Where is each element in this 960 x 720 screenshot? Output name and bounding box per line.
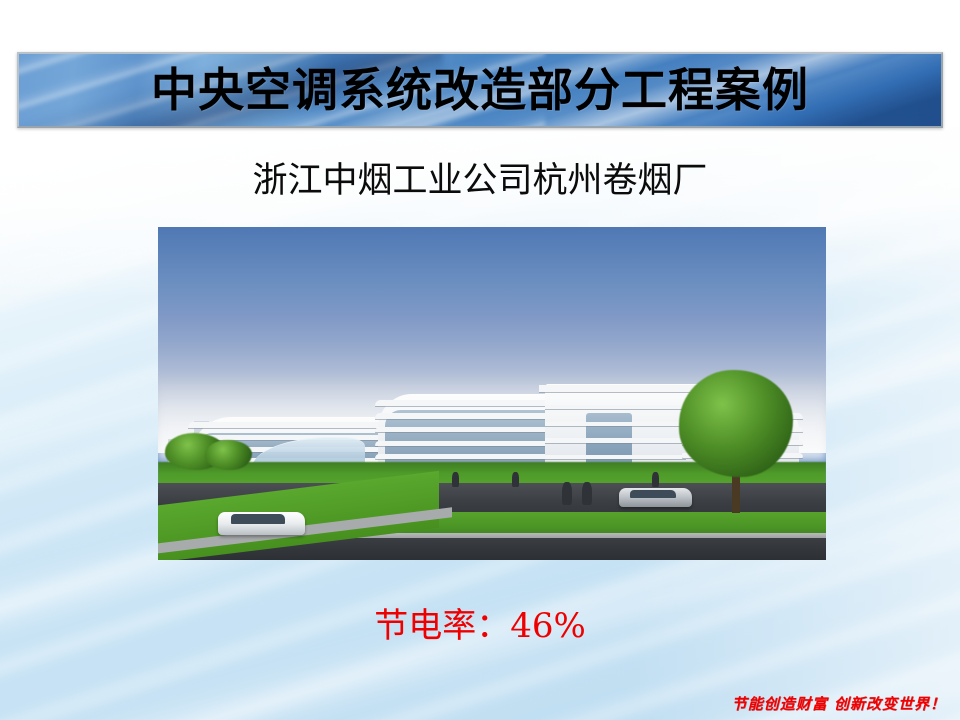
slide-root: 中央空调系统改造部分工程案例 浙江中烟工业公司杭州卷烟厂 [0,0,960,720]
footer-slogan: 节能创造财富 创新改变世界！ [732,696,946,713]
building-photo [158,227,826,560]
title-banner: 中央空调系统改造部分工程案例 [17,52,943,128]
photo-pedestrian [512,472,519,487]
power-saving-rate: 节电率：46% [0,608,960,645]
subtitle: 浙江中烟工业公司杭州卷烟厂 [0,162,960,201]
photo-balcony-band [375,413,569,419]
photo-tree-icon [205,440,252,470]
photo-balcony-band [375,441,569,446]
photo-car-window [231,514,284,524]
photo-balcony-band [375,400,569,406]
photo-pedestrian [582,482,592,505]
photo-roof-slab [539,385,713,392]
page-title: 中央空调系统改造部分工程案例 [151,67,809,113]
photo-pedestrian [652,472,659,487]
photo-car-window [630,490,677,498]
photo-balcony-band [375,427,569,433]
photo-pedestrian [562,482,572,505]
photo-pedestrian [452,472,459,487]
photo-tree-icon [679,370,793,477]
photo-balcony-band [375,454,569,459]
